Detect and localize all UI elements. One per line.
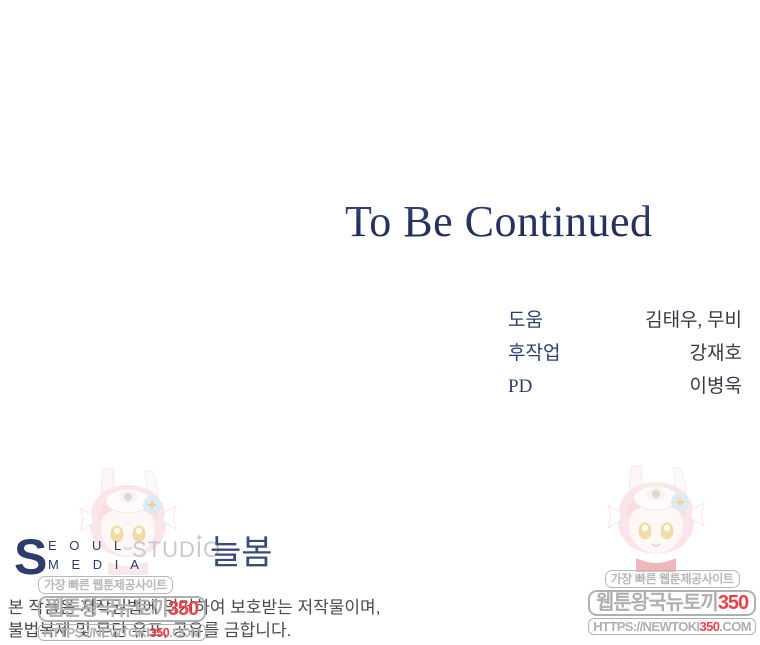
character-icon xyxy=(596,452,716,572)
watermark-tagline: 가장 빠른 웹툰제공사이트 xyxy=(38,576,173,594)
watermark-brand-text: 웹툰왕국뉴토끼 xyxy=(46,598,168,620)
watermark-brand-number: 350 xyxy=(718,592,748,614)
logo-studio-text: STUDIO xyxy=(132,537,221,563)
credit-value: 이병욱 xyxy=(690,371,742,398)
logo-seoul-text: E O U L xyxy=(48,538,126,553)
credit-label: 도움 xyxy=(508,305,543,332)
site-watermark: 가장 빠른 웹툰제공사이트 웹툰왕국뉴토끼350 HTTPS://NEWTOKI… xyxy=(38,576,206,641)
watermark-url-number: 350 xyxy=(700,619,720,634)
logo-media-text: M E D I A xyxy=(48,557,143,572)
watermark-url-prefix: HTTPS://NEWTOKI xyxy=(43,625,149,640)
watermark-url: HTTPS://NEWTOKI350.COM xyxy=(588,618,756,635)
logo-monogram: S xyxy=(14,532,47,582)
page-title: To Be Continued xyxy=(345,196,653,248)
credits-list: 도움 김태우, 무비 후작업 강재호 PD 이병욱 xyxy=(508,305,742,404)
credit-row: PD 이병욱 xyxy=(508,371,742,404)
watermark-url-suffix: .COM xyxy=(719,619,751,634)
watermark-url-suffix: .COM xyxy=(169,625,201,640)
credit-label: PD xyxy=(508,376,532,398)
watermark-brand-text: 웹툰왕국뉴토끼 xyxy=(596,592,718,614)
credit-value: 김태우, 무비 xyxy=(645,305,742,332)
credit-row: 도움 김태우, 무비 xyxy=(508,305,742,338)
site-watermark: 가장 빠른 웹툰제공사이트 웹툰왕국뉴토끼350 HTTPS://NEWTOKI… xyxy=(588,570,756,635)
watermark-tagline: 가장 빠른 웹툰제공사이트 xyxy=(605,570,740,588)
watermark-url-number: 350 xyxy=(149,625,169,640)
logo-brand-name: 늘봄 xyxy=(210,533,273,573)
sparkle-icon: ✦ xyxy=(195,533,203,544)
watermark-brand: 웹툰왕국뉴토끼350 xyxy=(38,596,206,622)
credit-row: 후작업 강재호 xyxy=(508,338,742,371)
watermark-url-prefix: HTTPS://NEWTOKI xyxy=(593,619,699,634)
credit-label: 후작업 xyxy=(508,338,560,365)
credit-value: 강재호 xyxy=(690,338,742,365)
watermark-url: HTTPS://NEWTOKI350.COM xyxy=(38,624,206,641)
watermark-brand: 웹툰왕국뉴토끼350 xyxy=(588,590,756,616)
watermark-brand-number: 350 xyxy=(168,598,198,620)
character-illustration xyxy=(596,452,716,572)
webtoon-end-card: To Be Continued 도움 김태우, 무비 후작업 강재호 PD 이병… xyxy=(0,0,760,645)
